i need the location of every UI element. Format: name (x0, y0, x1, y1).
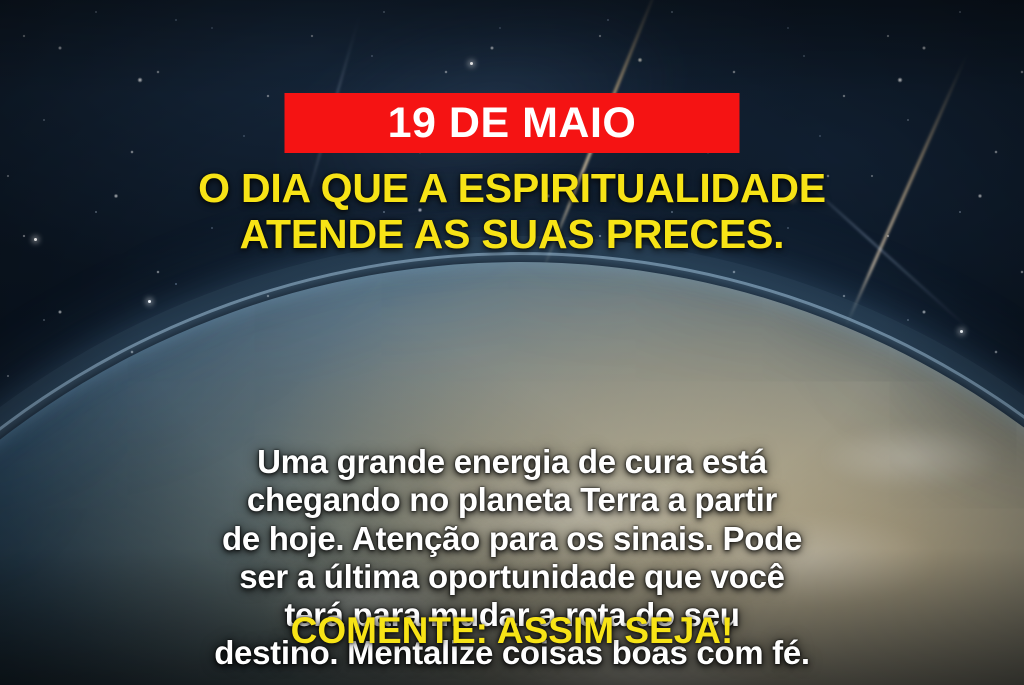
headline-line-2: ATENDE AS SUAS PRECES. (0, 212, 1024, 258)
date-banner-text: 19 DE MAIO (388, 102, 637, 145)
body-line-1: Uma grande energia de cura está (0, 443, 1024, 481)
poster-canvas: 19 DE MAIO O DIA QUE A ESPIRITUALIDADE A… (0, 0, 1024, 685)
headline: O DIA QUE A ESPIRITUALIDADE ATENDE AS SU… (0, 166, 1024, 258)
body-line-3: de hoje. Atenção para os sinais. Pode (0, 520, 1024, 558)
headline-line-1: O DIA QUE A ESPIRITUALIDADE (0, 166, 1024, 212)
date-banner: 19 DE MAIO (285, 93, 740, 153)
call-to-action-text: COMENTE: ASSIM SEJA! (291, 610, 734, 651)
poster-content: 19 DE MAIO O DIA QUE A ESPIRITUALIDADE A… (0, 0, 1024, 685)
body-line-4: ser a última oportunidade que você (0, 558, 1024, 596)
body-line-2: chegando no planeta Terra a partir (0, 481, 1024, 519)
call-to-action: COMENTE: ASSIM SEJA! (0, 612, 1024, 649)
